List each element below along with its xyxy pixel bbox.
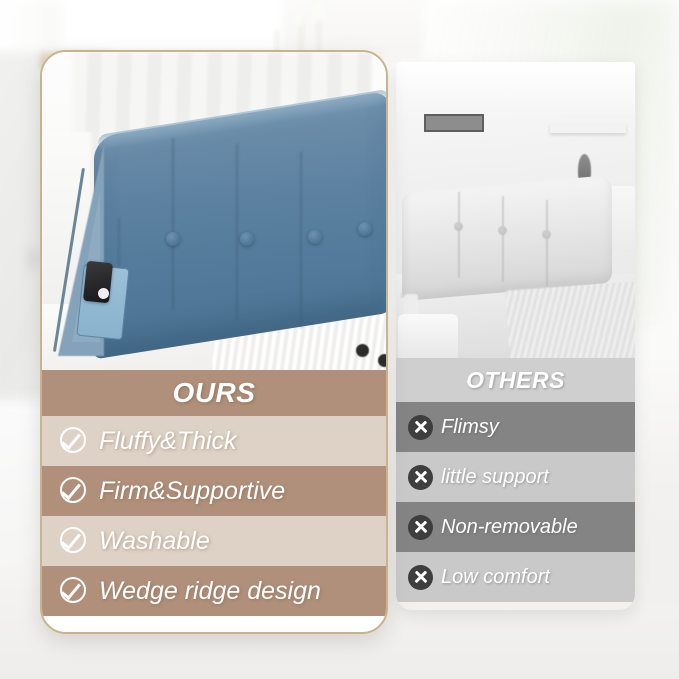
- others-picture-frame: [424, 114, 484, 132]
- x-circle-icon: [408, 565, 433, 590]
- ours-feature-row: Washable: [42, 516, 386, 566]
- others-feature-row: Non-removable: [396, 502, 635, 552]
- ours-card: OURS Fluffy&Thick Firm&Supportive Washab…: [40, 50, 388, 634]
- check-circle-icon: [59, 526, 89, 556]
- background-flower: [293, 14, 304, 27]
- ours-pocket-phone: [83, 261, 113, 303]
- others-shelf: [550, 124, 626, 133]
- others-pillow-seam: [458, 192, 460, 278]
- others-pillow-tuft: [498, 226, 507, 235]
- others-small-lamp: [404, 294, 418, 316]
- others-card: OTHERS Flimsy little support Non-removab…: [396, 62, 635, 610]
- ours-feature-list: OURS Fluffy&Thick Firm&Supportive Washab…: [42, 370, 386, 616]
- others-nightstand: [398, 314, 458, 358]
- others-feature-row: Flimsy: [396, 402, 635, 452]
- ours-pillow-tuft: [308, 230, 322, 244]
- ours-feature-label: Fluffy&Thick: [99, 427, 237, 456]
- x-circle-icon: [408, 465, 433, 490]
- ours-pillow-tuft: [166, 232, 180, 246]
- check-circle-icon: [59, 576, 89, 606]
- background-flower: [310, 2, 327, 22]
- others-pillow-seam: [546, 200, 548, 286]
- ours-header: OURS: [42, 370, 386, 416]
- ours-pillow-seam: [300, 152, 302, 328]
- ours-feature-label: Washable: [99, 527, 210, 556]
- others-feature-list: OTHERS Flimsy little support Non-removab…: [396, 358, 635, 602]
- others-pillow: [402, 175, 612, 301]
- others-feature-label: Flimsy: [441, 416, 499, 439]
- ours-pillow-tuft: [358, 222, 372, 236]
- ours-wedge-pillow: [58, 114, 386, 364]
- others-header-label: OTHERS: [466, 367, 565, 394]
- ours-header-label: OURS: [173, 377, 256, 409]
- ours-feature-row: Fluffy&Thick: [42, 416, 386, 466]
- x-circle-icon: [408, 515, 433, 540]
- others-feature-row: little support: [396, 452, 635, 502]
- ours-pillow-tuft: [240, 232, 254, 246]
- others-pillow-seam: [502, 196, 504, 282]
- product-comparison-image: OTHERS Flimsy little support Non-removab…: [0, 0, 679, 679]
- others-photo: [396, 62, 635, 358]
- ours-feature-row: Wedge ridge design: [42, 566, 386, 616]
- check-circle-icon: [59, 426, 89, 456]
- others-ceiling: [396, 62, 635, 114]
- others-pillow-tuft: [542, 230, 551, 239]
- ours-pillow-seam: [236, 144, 238, 320]
- ours-pillow-seam: [172, 138, 174, 310]
- others-blanket: [506, 282, 635, 358]
- ours-feature-label: Firm&Supportive: [99, 477, 285, 506]
- others-pillow-tuft: [454, 222, 463, 231]
- others-feature-row: Low comfort: [396, 552, 635, 602]
- others-header: OTHERS: [396, 358, 635, 402]
- ours-feature-label: Wedge ridge design: [99, 577, 321, 606]
- others-feature-label: little support: [441, 466, 549, 489]
- ours-photo: [42, 52, 386, 370]
- x-circle-icon: [408, 415, 433, 440]
- others-feature-label: Non-removable: [441, 516, 578, 539]
- check-circle-icon: [59, 476, 89, 506]
- others-feature-label: Low comfort: [441, 566, 550, 589]
- ours-feature-row: Firm&Supportive: [42, 466, 386, 516]
